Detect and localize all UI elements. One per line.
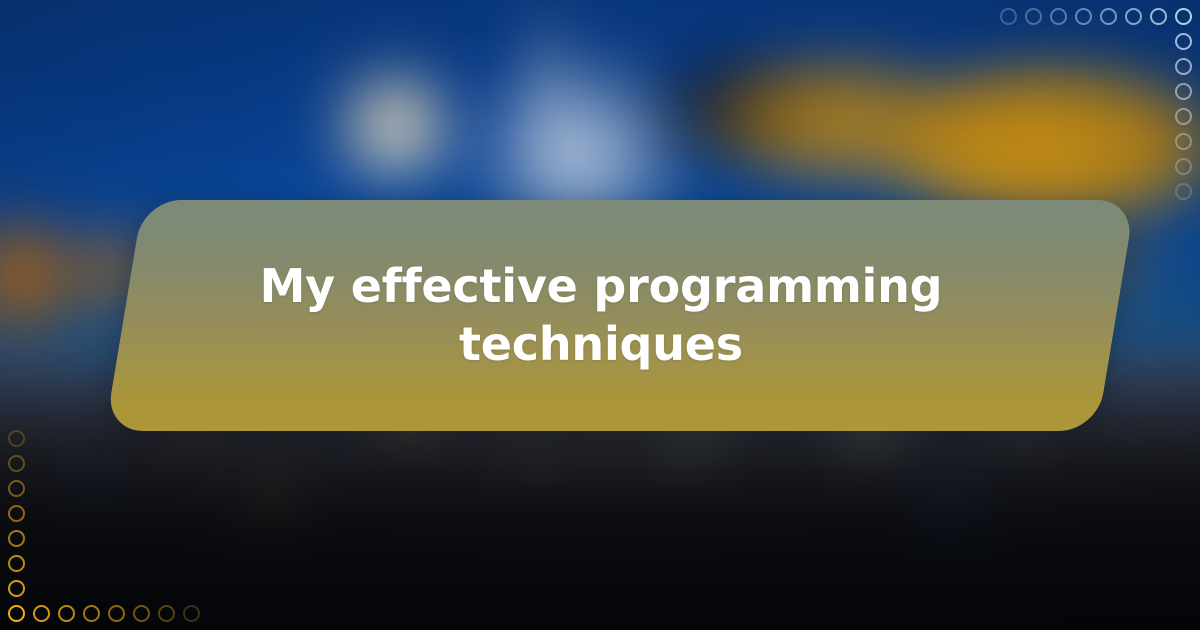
decorative-dot bbox=[1175, 83, 1192, 100]
decorative-dot bbox=[58, 605, 75, 622]
title-card-content: My effective programming techniques bbox=[105, 200, 1097, 431]
decorative-dot bbox=[8, 480, 25, 497]
decorative-dot bbox=[1075, 8, 1092, 25]
decorative-dot bbox=[108, 605, 125, 622]
page-title: My effective programming techniques bbox=[251, 258, 951, 374]
decorative-dot bbox=[133, 605, 150, 622]
decorative-dot bbox=[1175, 183, 1192, 200]
decorative-dot bbox=[1000, 8, 1017, 25]
decorative-dot bbox=[8, 605, 25, 622]
decorative-dot bbox=[1100, 8, 1117, 25]
decorative-dot bbox=[1125, 8, 1142, 25]
decorative-dot bbox=[1175, 108, 1192, 125]
decorative-dot bbox=[8, 555, 25, 572]
decorative-dot bbox=[8, 530, 25, 547]
decorative-dot bbox=[1175, 33, 1192, 50]
decorative-dot bbox=[83, 605, 100, 622]
dot-cluster-bottom-left bbox=[0, 420, 210, 630]
decorative-dot bbox=[8, 505, 25, 522]
title-card: My effective programming techniques bbox=[105, 200, 1135, 431]
decorative-dot bbox=[1175, 133, 1192, 150]
decorative-dot bbox=[1150, 8, 1167, 25]
dot-cluster-top-right bbox=[990, 0, 1200, 210]
decorative-dot bbox=[33, 605, 50, 622]
decorative-dot bbox=[8, 430, 25, 447]
decorative-dot bbox=[1050, 8, 1067, 25]
decorative-dot bbox=[1175, 158, 1192, 175]
decorative-dot bbox=[8, 455, 25, 472]
social-card-canvas: My effective programming techniques bbox=[0, 0, 1200, 630]
decorative-dot bbox=[8, 580, 25, 597]
decorative-dot bbox=[1175, 8, 1192, 25]
decorative-dot bbox=[1175, 58, 1192, 75]
decorative-dot bbox=[183, 605, 200, 622]
decorative-dot bbox=[158, 605, 175, 622]
decorative-dot bbox=[1025, 8, 1042, 25]
